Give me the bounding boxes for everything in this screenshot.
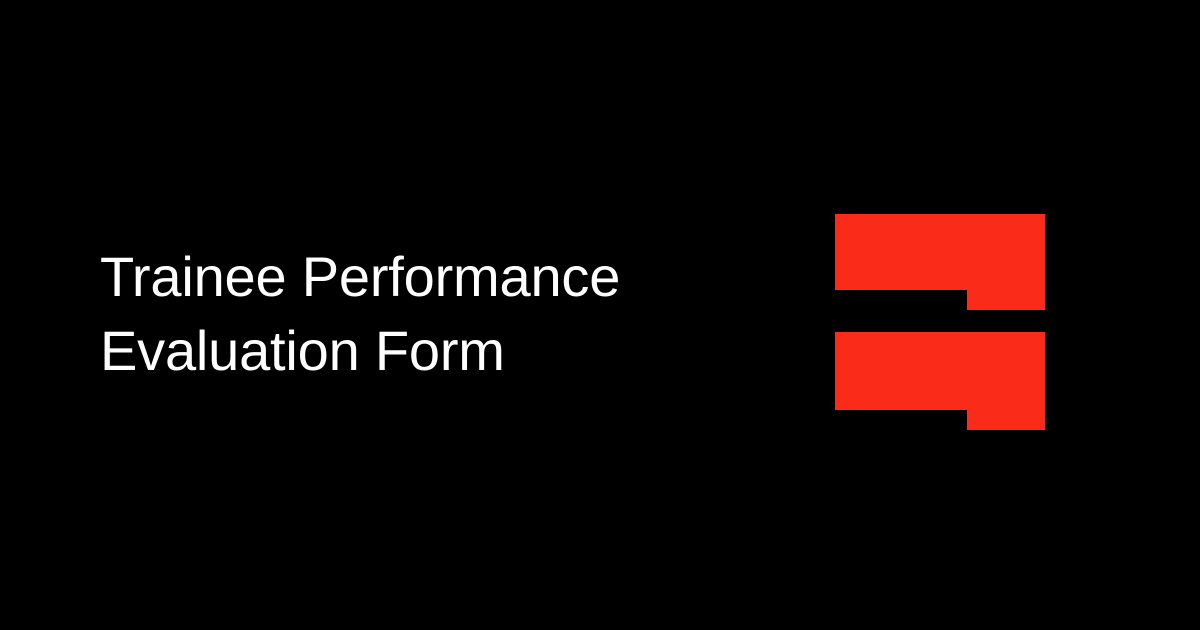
- brand-logo-icon: [835, 214, 1045, 430]
- brand-logo-lower-shape: [835, 332, 1045, 430]
- brand-logo-upper-shape: [835, 214, 1045, 310]
- brand-logo: [835, 214, 1045, 430]
- og-card: Trainee Performance Evaluation Form: [0, 0, 1200, 630]
- title-block: Trainee Performance Evaluation Form: [100, 240, 750, 388]
- page-title: Trainee Performance Evaluation Form: [100, 240, 750, 388]
